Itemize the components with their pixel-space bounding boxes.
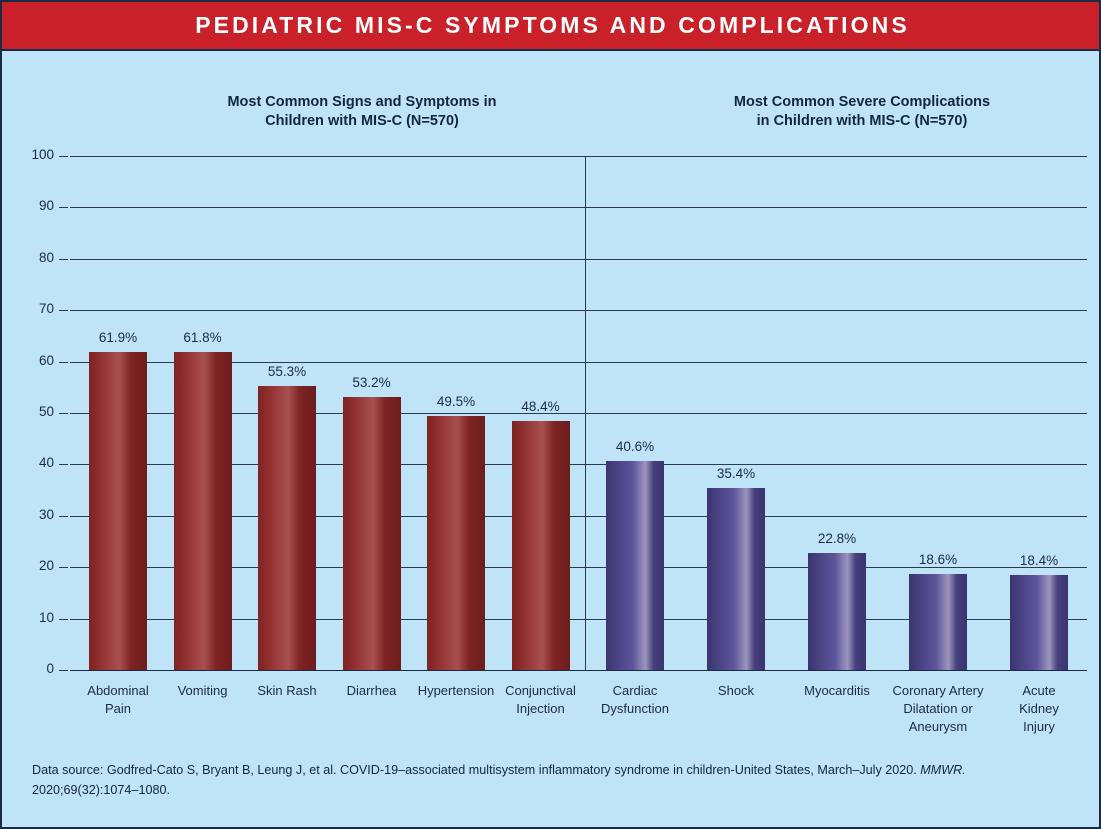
y-axis-tick-40 (59, 464, 68, 465)
bar-shock (707, 488, 765, 670)
bar-value-label: 18.4% (984, 553, 1094, 568)
page-title: PEDIATRIC MIS-C SYMPTOMS AND COMPLICATIO… (195, 12, 910, 39)
gridline-80 (70, 259, 1087, 260)
gridline-90 (70, 207, 1087, 208)
category-label-line: Dysfunction (579, 700, 691, 718)
y-axis-tick-10 (59, 619, 68, 620)
category-label-line: Dilatation or (882, 700, 994, 718)
bar-acute-kidney-injury (1010, 575, 1068, 670)
bar-value-label: 61.8% (148, 330, 258, 345)
y-axis-label-50: 50 (10, 404, 54, 419)
y-axis-label-30: 30 (10, 507, 54, 522)
y-axis-tick-20 (59, 567, 68, 568)
data-source-suffix: 2020;69(32):1074–1080. (32, 783, 170, 797)
y-axis-label-90: 90 (10, 198, 54, 213)
y-axis-tick-100 (59, 156, 68, 157)
data-source-note: Data source: Godfred-Cato S, Bryant B, L… (32, 760, 1072, 800)
category-label-line: Pain (62, 700, 174, 718)
bar-value-label: 18.6% (883, 552, 993, 567)
y-axis-label-80: 80 (10, 250, 54, 265)
y-axis-tick-60 (59, 362, 68, 363)
category-label-line: Kidney (983, 700, 1095, 718)
chart-body: Most Common Signs and Symptoms in Childr… (2, 51, 1099, 827)
y-axis-tick-50 (59, 413, 68, 414)
bar-skin-rash (258, 386, 316, 670)
y-axis-tick-30 (59, 516, 68, 517)
data-source-prefix: Data source: Godfred-Cato S, Bryant B, L… (32, 763, 920, 777)
bar-value-label: 35.4% (681, 466, 791, 481)
x-axis-category-acute-kidney-injury: AcuteKidneyInjury (983, 682, 1095, 736)
y-axis-label-40: 40 (10, 455, 54, 470)
bar-coronary-artery-dilatation-or-aneurysm (909, 574, 967, 670)
category-label-line: Myocarditis (781, 682, 893, 700)
x-axis-category-coronary-artery-dilatation-or-aneurysm: Coronary ArteryDilatation orAneurysm (882, 682, 994, 736)
bar-vomiting (174, 352, 232, 670)
bar-value-label: 53.2% (317, 375, 427, 390)
bar-hypertension (427, 416, 485, 670)
plot-area: 010203040506070809010061.9%AbdominalPain… (2, 51, 1099, 827)
y-axis-tick-0 (59, 670, 68, 671)
y-axis-label-60: 60 (10, 353, 54, 368)
bar-diarrhea (343, 397, 401, 670)
x-axis-category-myocarditis: Myocarditis (781, 682, 893, 700)
category-label-line: Aneurysm (882, 718, 994, 736)
y-axis-label-20: 20 (10, 558, 54, 573)
bar-value-label: 48.4% (486, 399, 596, 414)
bar-myocarditis (808, 553, 866, 670)
category-label-line: Acute (983, 682, 1095, 700)
y-axis-label-70: 70 (10, 301, 54, 316)
category-label-line: Cardiac (579, 682, 691, 700)
x-axis-category-shock: Shock (680, 682, 792, 700)
bar-conjunctival-injection (512, 421, 570, 670)
bar-value-label: 40.6% (580, 439, 690, 454)
chart-page: PEDIATRIC MIS-C SYMPTOMS AND COMPLICATIO… (0, 0, 1101, 829)
y-axis-tick-90 (59, 207, 68, 208)
y-axis-label-10: 10 (10, 610, 54, 625)
bar-abdominal-pain (89, 352, 147, 670)
category-label-line: Coronary Artery (882, 682, 994, 700)
y-axis-label-100: 100 (10, 147, 54, 162)
category-label-line: Shock (680, 682, 792, 700)
y-axis-tick-70 (59, 310, 68, 311)
data-source-journal: MMWR. (920, 763, 965, 777)
header-banner: PEDIATRIC MIS-C SYMPTOMS AND COMPLICATIO… (2, 2, 1101, 51)
gridline-70 (70, 310, 1087, 311)
bar-cardiac-dysfunction (606, 461, 664, 670)
x-axis-baseline (70, 670, 1087, 671)
x-axis-category-cardiac-dysfunction: CardiacDysfunction (579, 682, 691, 718)
gridline-100 (70, 156, 1087, 157)
y-axis-tick-80 (59, 259, 68, 260)
y-axis-label-0: 0 (10, 661, 54, 676)
category-label-line: Injury (983, 718, 1095, 736)
bar-value-label: 22.8% (782, 531, 892, 546)
